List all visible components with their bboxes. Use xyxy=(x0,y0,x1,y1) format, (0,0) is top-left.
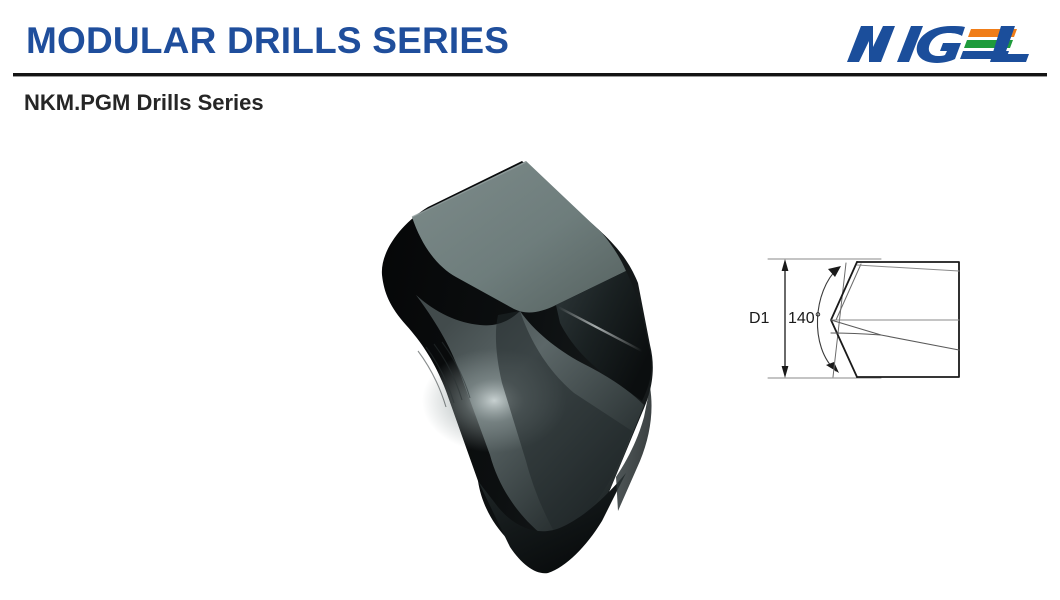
page-title: MODULAR DRILLS SERIES xyxy=(26,22,509,59)
drill-insert-3d-render xyxy=(350,155,690,580)
header-divider xyxy=(13,73,1047,76)
nigel-logo xyxy=(843,22,1033,70)
page-subtitle: NKM.PGM Drills Series xyxy=(24,92,264,114)
slide: MODULAR DRILLS SERIES NKM.PGM Drills Ser… xyxy=(0,0,1060,600)
point-angle-label: 140° xyxy=(788,311,821,327)
dimension-label-d1: D1 xyxy=(749,311,769,327)
drill-point-geometry-diagram xyxy=(735,235,980,400)
